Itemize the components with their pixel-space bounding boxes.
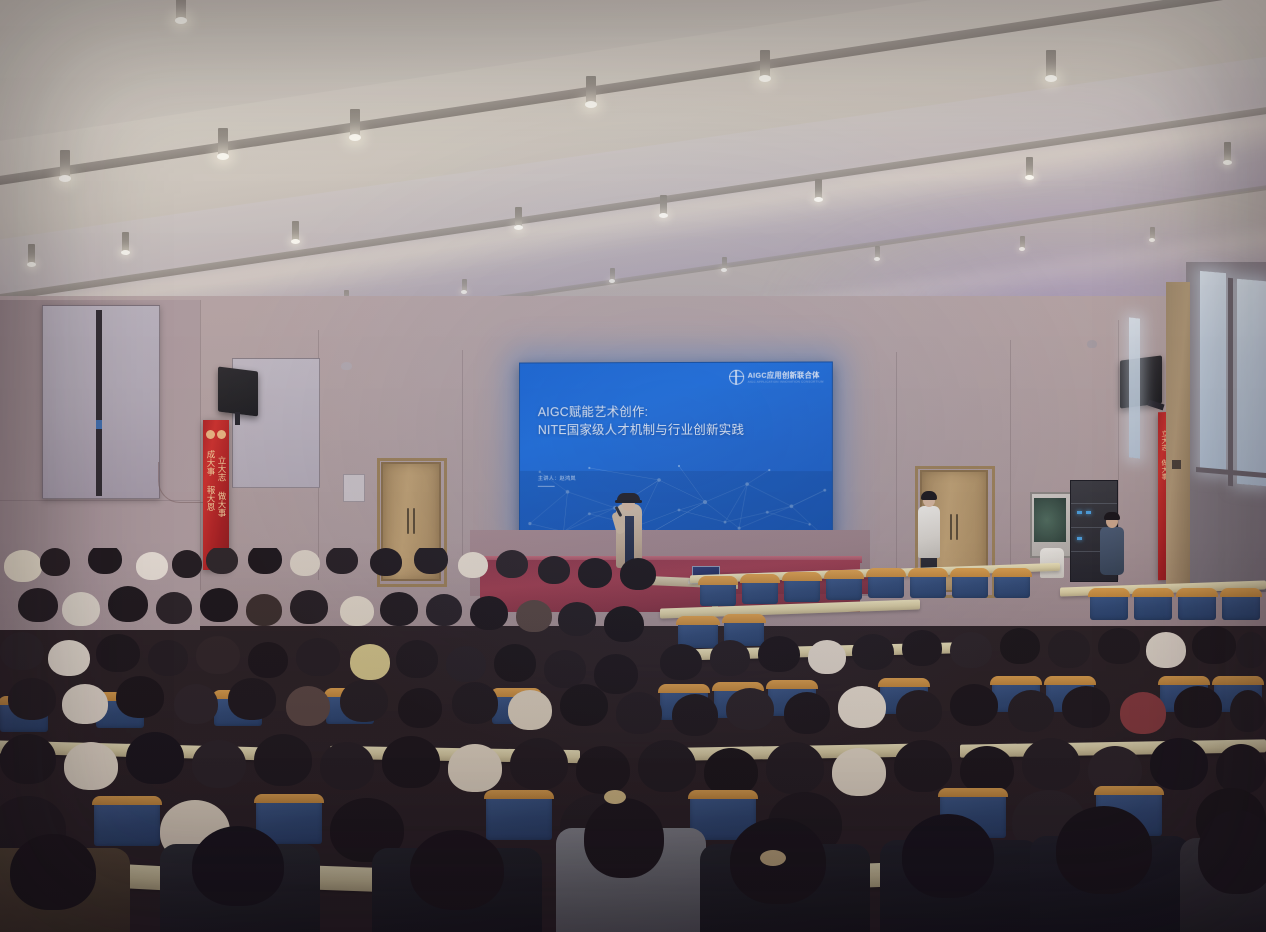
downlight-icon bbox=[28, 244, 35, 264]
audience-head bbox=[726, 688, 774, 730]
audience-head bbox=[296, 638, 340, 676]
audience-head bbox=[896, 690, 942, 732]
wall-seam bbox=[200, 300, 201, 590]
door-handle-icon bbox=[413, 508, 415, 534]
audience-head bbox=[1048, 630, 1090, 668]
seat[interactable] bbox=[1178, 590, 1216, 620]
audience-head bbox=[40, 548, 70, 576]
audience-head bbox=[672, 694, 718, 736]
globe-network-icon bbox=[730, 370, 745, 385]
audience-head bbox=[538, 556, 570, 584]
slide-title-line-1: AIGC赋能艺术创作: bbox=[538, 403, 744, 421]
seat[interactable] bbox=[910, 570, 946, 598]
downlight-icon bbox=[1046, 50, 1056, 78]
audience-head bbox=[808, 640, 846, 674]
audience-head bbox=[1120, 692, 1166, 734]
slide-title-line-2: NITE国家级人才机制与行业创新实践 bbox=[538, 421, 744, 439]
org-logo-name: AIGC应用创新联合体 bbox=[748, 371, 824, 379]
audience-head bbox=[832, 748, 886, 796]
audience-head bbox=[350, 644, 390, 680]
audience-head bbox=[192, 740, 246, 788]
downlight-icon bbox=[815, 179, 822, 199]
audience-head bbox=[410, 830, 504, 910]
audience-head bbox=[248, 548, 282, 574]
audience-head bbox=[206, 548, 238, 574]
downlight-icon bbox=[122, 232, 129, 252]
monitor-screen bbox=[1034, 498, 1066, 542]
audience-head bbox=[508, 690, 552, 730]
audience-head bbox=[62, 684, 108, 724]
audience-head bbox=[18, 588, 58, 622]
seat[interactable] bbox=[994, 570, 1030, 598]
audience-head bbox=[1098, 628, 1140, 664]
audience-head bbox=[136, 552, 168, 580]
audience-head bbox=[784, 692, 830, 734]
audience-head bbox=[584, 798, 664, 878]
banner-seal-icon bbox=[203, 426, 229, 444]
window-right-pane bbox=[1237, 279, 1266, 487]
audience-head bbox=[414, 548, 448, 574]
downlight-icon bbox=[1224, 142, 1231, 162]
banner-text-left-2: 立大志 做大事 bbox=[217, 456, 227, 517]
downlight-icon bbox=[176, 0, 186, 20]
audience-head bbox=[1174, 686, 1222, 728]
org-logo: AIGC应用创新联合体 AIGC APPLICATION INNOVATION … bbox=[730, 370, 824, 385]
loudspeaker-left bbox=[218, 367, 258, 417]
hair-tie bbox=[760, 850, 786, 866]
audience-head bbox=[446, 646, 486, 682]
audience-head bbox=[1150, 738, 1208, 790]
audience-head bbox=[396, 640, 438, 678]
window-narrow bbox=[1129, 317, 1140, 458]
audience-head bbox=[398, 688, 442, 728]
rack-led-icon bbox=[1077, 537, 1082, 540]
audience-head bbox=[766, 742, 824, 794]
audience-head bbox=[616, 692, 662, 734]
audience-head bbox=[494, 644, 536, 682]
projection-screen-strip bbox=[96, 310, 102, 496]
audience-head bbox=[0, 734, 56, 784]
rack-shelf bbox=[1071, 503, 1117, 504]
ceiling-camera-icon bbox=[341, 362, 352, 370]
audience-head bbox=[458, 552, 488, 578]
downlight-icon bbox=[515, 207, 522, 227]
hair-tie bbox=[604, 790, 626, 804]
audience-head bbox=[228, 678, 276, 720]
audience-head bbox=[62, 592, 100, 626]
downlight-icon bbox=[610, 268, 615, 281]
audience-head bbox=[196, 636, 240, 674]
audience-head bbox=[1192, 626, 1236, 664]
audience-head bbox=[326, 548, 358, 574]
audience-head bbox=[902, 630, 942, 666]
ceiling bbox=[0, 0, 1266, 330]
audience-head bbox=[544, 650, 586, 688]
downlight-icon bbox=[875, 246, 880, 259]
audience-head bbox=[8, 678, 56, 720]
seat[interactable] bbox=[952, 570, 988, 598]
audience-head bbox=[88, 548, 122, 574]
audience-head bbox=[516, 600, 552, 632]
audience-head bbox=[894, 740, 952, 792]
seat[interactable] bbox=[700, 578, 736, 606]
audience-head bbox=[852, 634, 894, 670]
audience-head bbox=[108, 586, 148, 622]
projection-screen-indicator bbox=[96, 420, 102, 429]
assistant-hair bbox=[921, 491, 937, 500]
wall-notice bbox=[343, 474, 365, 502]
seat[interactable] bbox=[868, 570, 904, 598]
audience-head bbox=[578, 558, 612, 588]
speaker-mount-bracket bbox=[235, 412, 240, 425]
audience-head bbox=[116, 676, 164, 718]
downlight-icon bbox=[462, 279, 467, 292]
audience-head bbox=[950, 684, 998, 726]
wall-seam bbox=[1010, 340, 1011, 580]
audience-head bbox=[604, 606, 644, 642]
audience-head bbox=[594, 654, 638, 694]
audience-head bbox=[838, 686, 886, 728]
ceiling-camera-icon bbox=[1087, 340, 1097, 348]
lecture-hall-photo: 成大事 報大恩 立大志 做大事 立大志 做大事 bbox=[0, 0, 1266, 932]
org-logo-subtitle: AIGC APPLICATION INNOVATION CONSORTIUM bbox=[748, 379, 824, 383]
presenter-hat-brim bbox=[615, 500, 642, 503]
audience-head bbox=[320, 742, 374, 790]
wall-pillar bbox=[1166, 282, 1190, 592]
audience-head bbox=[286, 686, 330, 726]
audience-head bbox=[1056, 806, 1152, 894]
window-mullion bbox=[1228, 278, 1233, 486]
audience-head bbox=[638, 740, 696, 792]
seat[interactable] bbox=[742, 576, 778, 604]
downlight-icon bbox=[292, 221, 299, 241]
audience-head bbox=[452, 682, 498, 724]
audience-head bbox=[758, 636, 800, 672]
technician-hair bbox=[1104, 512, 1120, 520]
audience-head bbox=[48, 640, 90, 676]
banner-text-left: 成大事 報大恩 bbox=[206, 450, 216, 511]
audience-head bbox=[96, 634, 140, 672]
audience-head bbox=[1022, 738, 1080, 790]
downlight-icon bbox=[660, 195, 667, 215]
audience-head bbox=[10, 834, 96, 910]
door-handle-icon bbox=[407, 508, 409, 534]
audience-head bbox=[902, 814, 994, 898]
audience-head bbox=[1230, 690, 1266, 732]
audience-head bbox=[1062, 686, 1110, 728]
audience-head bbox=[248, 642, 288, 678]
slide-rule bbox=[538, 486, 555, 487]
audience-head bbox=[1146, 632, 1186, 668]
audience-head bbox=[200, 588, 238, 622]
audience-head bbox=[510, 738, 568, 790]
audience-head bbox=[254, 734, 312, 786]
audience-area bbox=[0, 548, 1266, 932]
audience-head bbox=[576, 746, 630, 794]
audience-head bbox=[558, 602, 596, 636]
door-handle-icon bbox=[950, 514, 952, 540]
audience-head bbox=[174, 684, 218, 724]
rack-led-icon bbox=[1086, 511, 1091, 514]
audience-head bbox=[172, 550, 202, 578]
window-left-pane bbox=[1200, 271, 1226, 473]
seat[interactable] bbox=[1090, 590, 1128, 620]
audience-head bbox=[290, 550, 320, 576]
audience-head bbox=[4, 550, 42, 582]
downlight-icon bbox=[218, 128, 228, 156]
audience-head bbox=[710, 640, 750, 676]
audience-head bbox=[660, 644, 702, 680]
audience-head bbox=[1236, 632, 1266, 668]
audience-head bbox=[1216, 744, 1266, 794]
audience-head bbox=[560, 684, 608, 726]
audience-head bbox=[470, 596, 508, 630]
downlight-icon bbox=[350, 109, 360, 137]
seat[interactable] bbox=[826, 572, 862, 600]
slide-host-label: 主讲人：赵鸿岚 bbox=[538, 475, 576, 482]
wall-seam bbox=[462, 350, 463, 570]
audience-head bbox=[126, 732, 184, 784]
downlight-icon bbox=[1150, 227, 1155, 240]
audience-head bbox=[148, 640, 188, 676]
audience-head bbox=[704, 748, 758, 796]
audience-head bbox=[960, 746, 1014, 794]
audience-head bbox=[448, 744, 502, 792]
wall-plate-icon bbox=[1172, 460, 1181, 469]
audience-head bbox=[340, 596, 374, 626]
audience-head bbox=[382, 736, 440, 788]
loudspeaker-right bbox=[1120, 355, 1162, 408]
wall-cable bbox=[158, 462, 205, 503]
downlight-icon bbox=[1020, 236, 1025, 249]
downlight-icon bbox=[60, 150, 70, 178]
rack-led-icon bbox=[1077, 511, 1082, 514]
audience-head bbox=[370, 548, 402, 576]
downlight-icon bbox=[586, 76, 596, 104]
downlight-icon bbox=[1026, 157, 1033, 177]
audience-head bbox=[0, 632, 44, 670]
seat[interactable] bbox=[784, 574, 820, 602]
audience-head bbox=[1000, 628, 1040, 664]
audience-head bbox=[496, 550, 528, 578]
seat[interactable] bbox=[486, 792, 552, 840]
seat[interactable] bbox=[1134, 590, 1172, 620]
audience-head bbox=[64, 742, 118, 790]
led-presentation-screen: AIGC应用创新联合体 AIGC APPLICATION INNOVATION … bbox=[519, 361, 833, 541]
audience-head bbox=[380, 592, 418, 626]
seat[interactable] bbox=[1222, 590, 1260, 620]
audience-head bbox=[156, 592, 192, 624]
audience-head bbox=[426, 594, 462, 626]
slide-title: AIGC赋能艺术创作: NITE国家级人才机制与行业创新实践 bbox=[538, 403, 744, 439]
audience-head bbox=[290, 590, 328, 624]
door-handle-icon bbox=[956, 514, 958, 540]
audience-head bbox=[950, 632, 992, 668]
audience-head bbox=[620, 558, 656, 590]
seat[interactable] bbox=[94, 798, 160, 846]
audience-head bbox=[192, 826, 284, 906]
audience-head bbox=[340, 680, 388, 722]
audience-head bbox=[1008, 690, 1054, 732]
downlight-icon bbox=[722, 257, 727, 270]
audience-head bbox=[1198, 810, 1266, 894]
audience-head bbox=[246, 594, 282, 626]
downlight-icon bbox=[760, 50, 770, 78]
